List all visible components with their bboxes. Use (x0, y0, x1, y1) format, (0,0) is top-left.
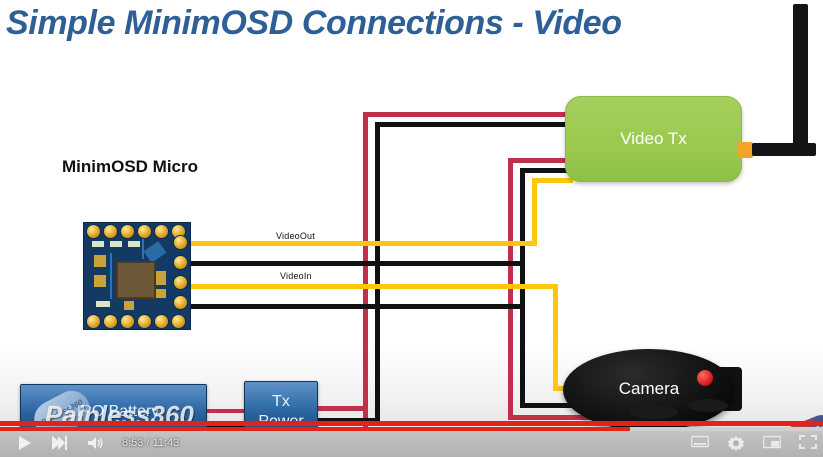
video-tx-module: Video Tx (565, 96, 742, 182)
osd-chip (116, 261, 156, 299)
wire-yellow-videoin (175, 284, 557, 289)
wire-label-videoout: VideoOut (276, 231, 315, 241)
minimosd-label: MinimOSD Micro (62, 157, 198, 177)
player-right-controls (691, 435, 817, 449)
wire-red-top-horizontal (363, 112, 573, 117)
slide-canvas: Simple MinimOSD Connections - Video Mini… (0, 0, 823, 440)
wire-label-videoin: VideoIn (280, 271, 312, 281)
volume-button[interactable] (88, 436, 104, 455)
subtitles-button[interactable] (691, 435, 709, 449)
camera-indicator-dot (697, 370, 713, 386)
play-button[interactable] (18, 436, 32, 455)
wire-yellow-tx-vertical (532, 178, 537, 244)
tx-power-label: Tx Power (258, 392, 303, 432)
progress-bar-highlight (0, 421, 823, 426)
wire-red-txpower-out (316, 406, 366, 411)
antenna-vertical-segment (793, 4, 808, 154)
page-title: Simple MinimOSD Connections - Video (6, 4, 766, 43)
fullscreen-button[interactable] (799, 435, 817, 449)
next-button[interactable] (52, 436, 68, 455)
miniplayer-button[interactable] (763, 435, 781, 449)
wire-yellow-camera-vertical (553, 284, 558, 391)
minimosd-board (83, 222, 191, 330)
video-player-controls[interactable]: 8:53 / 11:43 (0, 427, 823, 457)
wire-red-top-vertical (363, 112, 368, 432)
wire-black-top-horizontal (375, 122, 573, 127)
wire-red-battery-out (205, 409, 245, 413)
video-tx-label: Video Tx (620, 129, 686, 149)
wire-yellow-tx-horizontal (532, 178, 573, 183)
lipo-battery-label: LIPO Battery (68, 402, 160, 422)
camera-shadow-left (630, 406, 678, 419)
wire-black-videoout-gnd (175, 261, 525, 266)
progress-bar-played (0, 427, 630, 431)
wire-yellow-videoout (175, 241, 537, 246)
wire-black-videoin-gnd (175, 304, 525, 309)
settings-button[interactable] (727, 435, 745, 449)
progress-bar-track[interactable] (0, 427, 823, 431)
camera-shadow-right (688, 399, 728, 412)
wire-red-mid-vertical (508, 158, 513, 420)
video-player-stage: Simple MinimOSD Connections - Video Mini… (0, 0, 823, 457)
wire-red-mid-horizontal (508, 158, 573, 163)
tx-power-line1: Tx (272, 393, 290, 410)
time-display: 8:53 / 11:43 (122, 437, 179, 449)
antenna-connector (738, 142, 753, 158)
wire-black-top-vertical (375, 122, 380, 422)
